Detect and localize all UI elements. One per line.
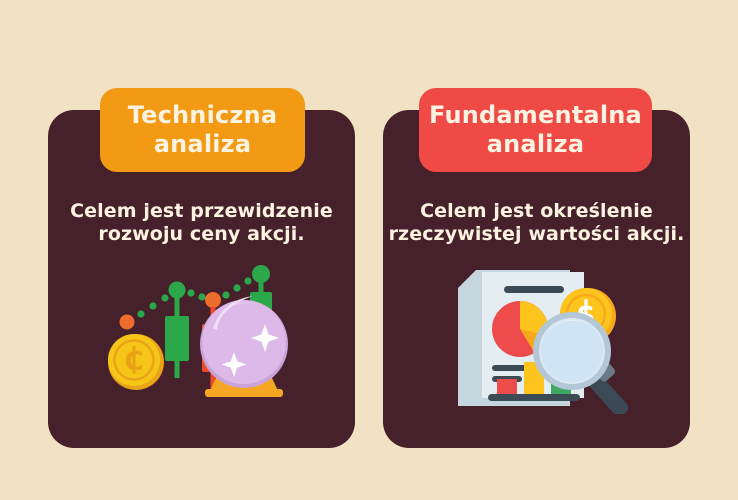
body-text-fundamentalna-line1: Celem jest określenie	[383, 200, 690, 223]
crystal-ball-candlestick-illustration: C	[103, 262, 303, 397]
report-magnifier-illustration: S	[452, 266, 652, 414]
badge-techniczna[interactable]: Techniczna analiza	[100, 88, 305, 172]
body-text-fundamentalna-line2: rzeczywistej wartości akcji.	[383, 223, 690, 246]
body-text-techniczna-line2: rozwoju ceny akcji.	[48, 223, 355, 246]
infographic-canvas: C Techniczna analiza Ce	[0, 0, 738, 500]
body-text-fundamentalna: Celem jest określenie rzeczywistej warto…	[383, 200, 690, 246]
badge-fundamentalna-line2: analiza	[487, 130, 585, 159]
badge-techniczna-line2: analiza	[154, 130, 252, 159]
badge-fundamentalna[interactable]: Fundamentalna analiza	[419, 88, 652, 172]
body-text-techniczna: Celem jest przewidzenie rozwoju ceny akc…	[48, 200, 355, 246]
doc-header-line	[504, 286, 564, 293]
badge-techniczna-line1: Techniczna	[128, 101, 278, 130]
badge-fundamentalna-line1: Fundamentalna	[429, 101, 642, 130]
gold-coin-icon: C	[108, 334, 164, 390]
body-text-techniczna-line1: Celem jest przewidzenie	[48, 200, 355, 223]
